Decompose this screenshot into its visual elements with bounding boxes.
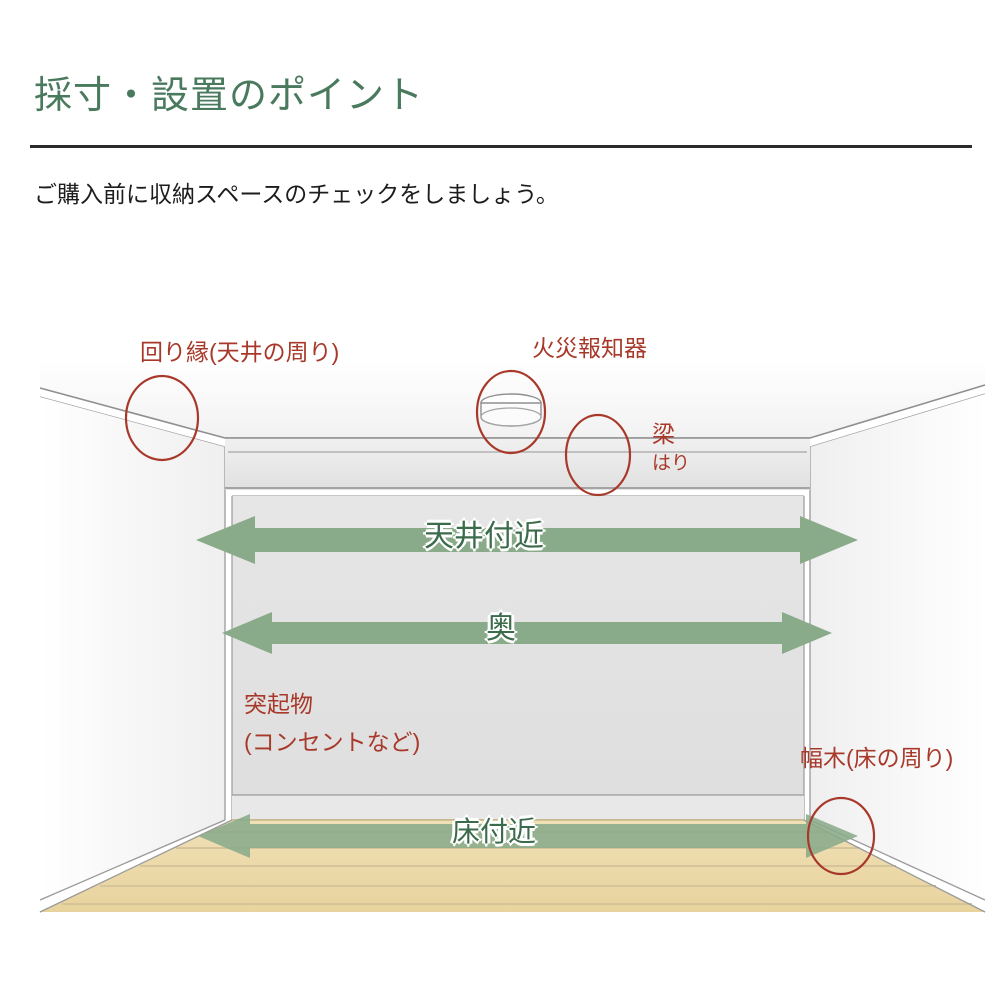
label-ceiling-molding: 回り縁(天井の周り) xyxy=(140,338,339,367)
smoke-detector-icon xyxy=(481,394,541,426)
page-subtitle: ご購入前に収納スペースのチェックをしましょう。 xyxy=(34,180,559,210)
room-diagram: 回り縁(天井の周り) 火災報知器 梁 はり 突起物 (コンセントなど) 幅木(床… xyxy=(0,300,1000,960)
arrow-label-near-floor: 床付近 xyxy=(452,818,536,846)
label-baseboard: 幅木(床の周り) xyxy=(800,744,953,773)
title-divider xyxy=(30,145,972,148)
page-title: 採寸・設置のポイント xyxy=(34,74,424,120)
label-protrusion-examples: (コンセントなど) xyxy=(244,728,420,757)
label-beam: 梁 xyxy=(652,420,675,449)
arrow-label-depth: 奥 xyxy=(486,614,516,644)
label-beam-reading: はり xyxy=(652,452,690,476)
arrow-label-near-ceiling: 天井付近 xyxy=(424,522,544,552)
ceiling-beam xyxy=(225,438,810,496)
page-root: 採寸・設置のポイント ご購入前に収納スペースのチェックをしましょう。 xyxy=(0,0,1000,1000)
label-fire-alarm: 火災報知器 xyxy=(532,334,647,363)
label-protrusion: 突起物 xyxy=(244,690,313,719)
left-side-wall xyxy=(40,397,225,912)
